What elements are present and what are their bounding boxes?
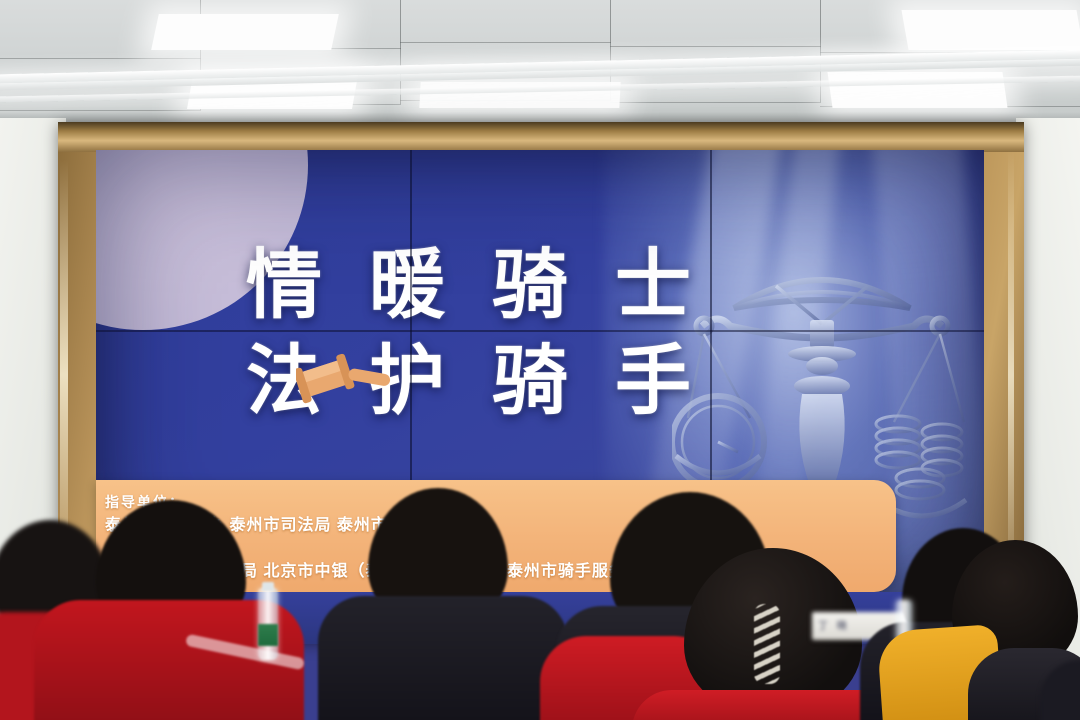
bottle-label	[258, 624, 278, 646]
hair-clip-icon	[754, 604, 780, 684]
ceiling-light-panel	[901, 10, 1080, 50]
ceiling	[0, 0, 1080, 140]
nameplate-text: 丁 晓	[818, 617, 850, 632]
screenshot-root: 情 暖 骑 士 法 护 骑 手 指导单位： 泰州市委网信办 泰州市司法局 泰州	[0, 0, 1080, 720]
banner-label-guidance: 指导单位：	[105, 492, 895, 513]
bottle-cap	[262, 582, 274, 591]
video-wall-frame-top	[58, 122, 1024, 152]
attendee-body	[318, 596, 568, 720]
ceiling-light-panel	[151, 14, 339, 50]
